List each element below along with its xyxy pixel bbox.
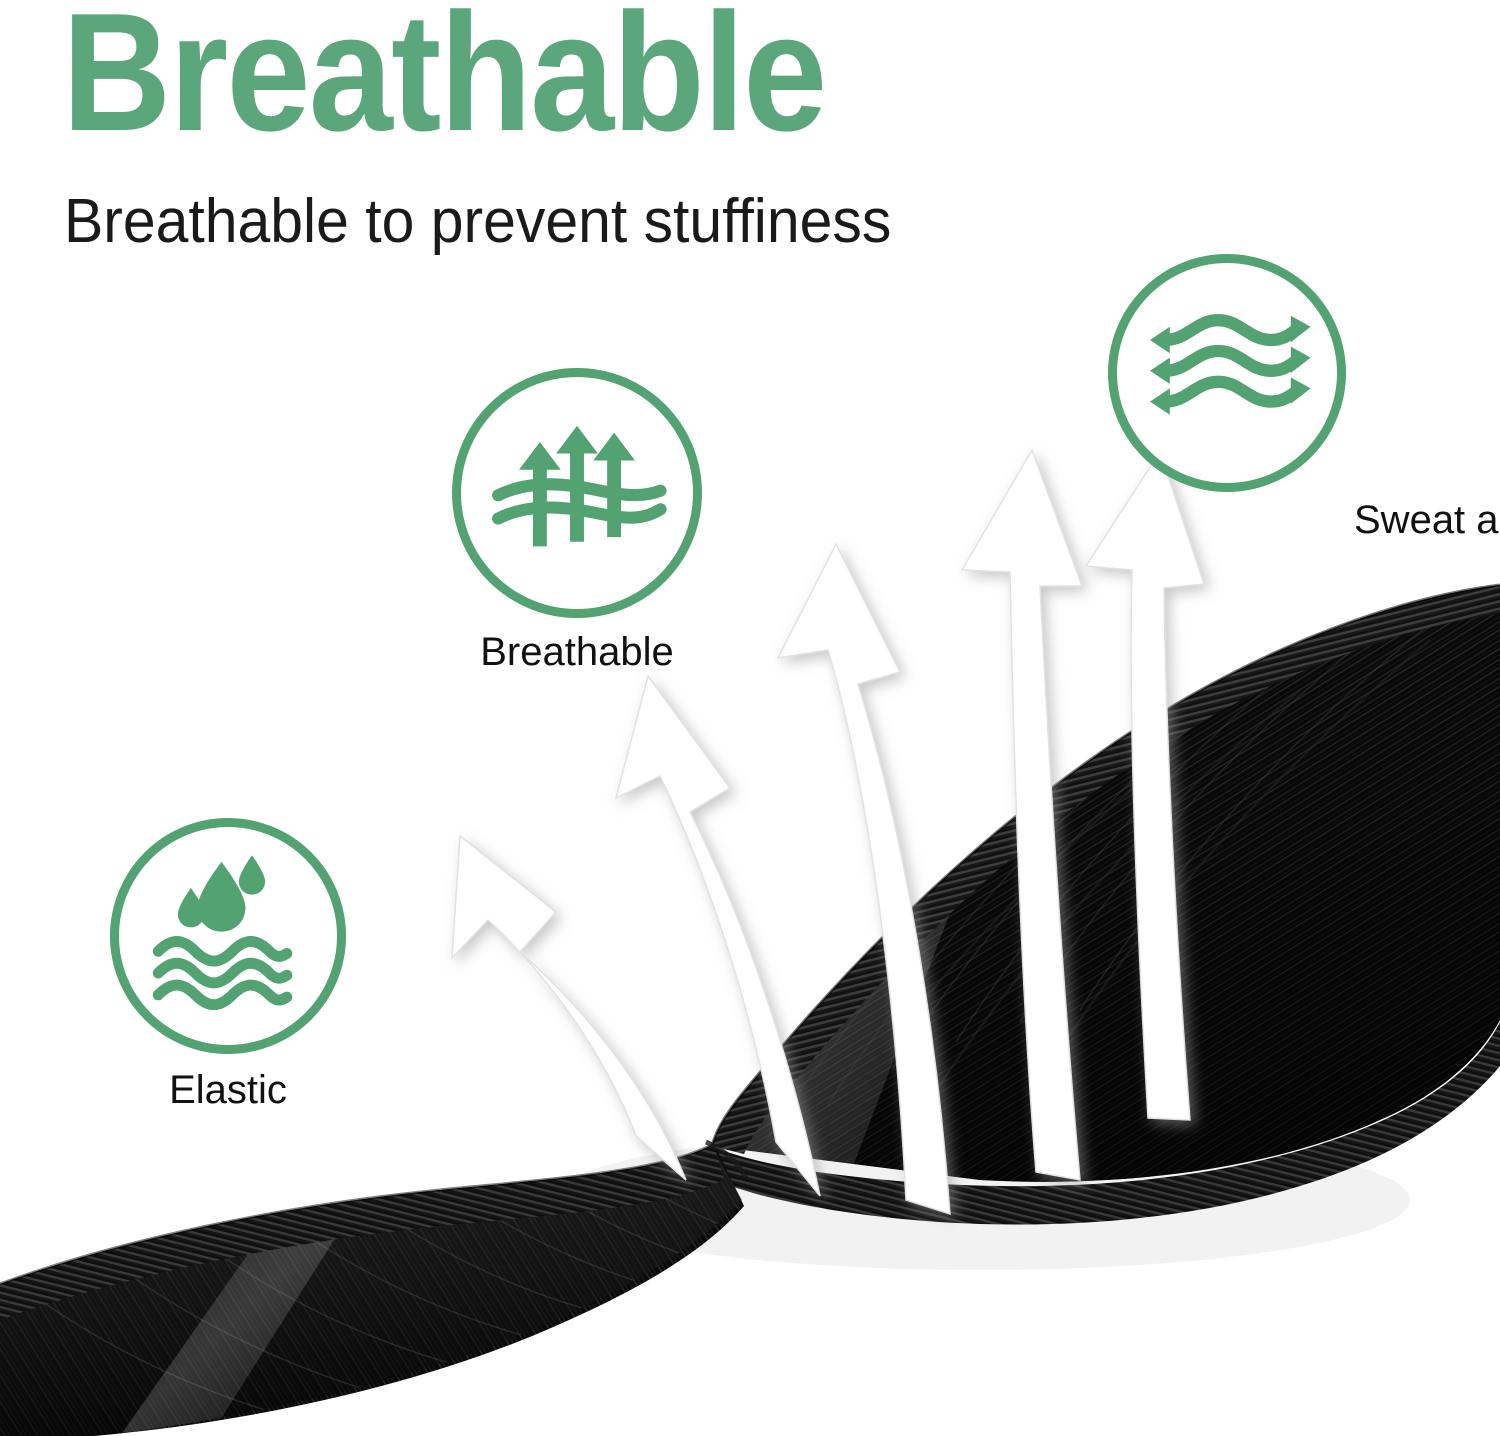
feature-sweat-absorption-label: Sweat absorption <box>1346 498 1500 543</box>
page-title: Breathable <box>62 0 825 156</box>
feature-elastic-label: Elastic <box>110 1068 346 1113</box>
promo-image-canvas: Breathable Breathable to prevent stuffin… <box>0 0 1500 1436</box>
feature-elastic: Elastic <box>110 818 346 1113</box>
feature-sweat-absorption-circle <box>1108 254 1346 492</box>
feature-breathable-label: Breathable <box>452 630 702 675</box>
insole-forefoot-panel <box>600 540 1500 1236</box>
feature-breathable: Breathable <box>452 368 702 675</box>
insole-heel-panel <box>0 1120 846 1436</box>
airflow-arrows-through-fabric-icon <box>461 377 693 609</box>
feature-elastic-circle <box>110 818 346 1054</box>
water-droplets-over-waves-icon <box>119 827 337 1045</box>
triple-wavy-double-arrow-icon <box>1117 263 1337 483</box>
feature-breathable-circle <box>452 368 702 618</box>
feature-sweat-absorption: Sweat absorption <box>1108 254 1346 492</box>
page-subtitle: Breathable to prevent stuffiness <box>64 186 891 257</box>
